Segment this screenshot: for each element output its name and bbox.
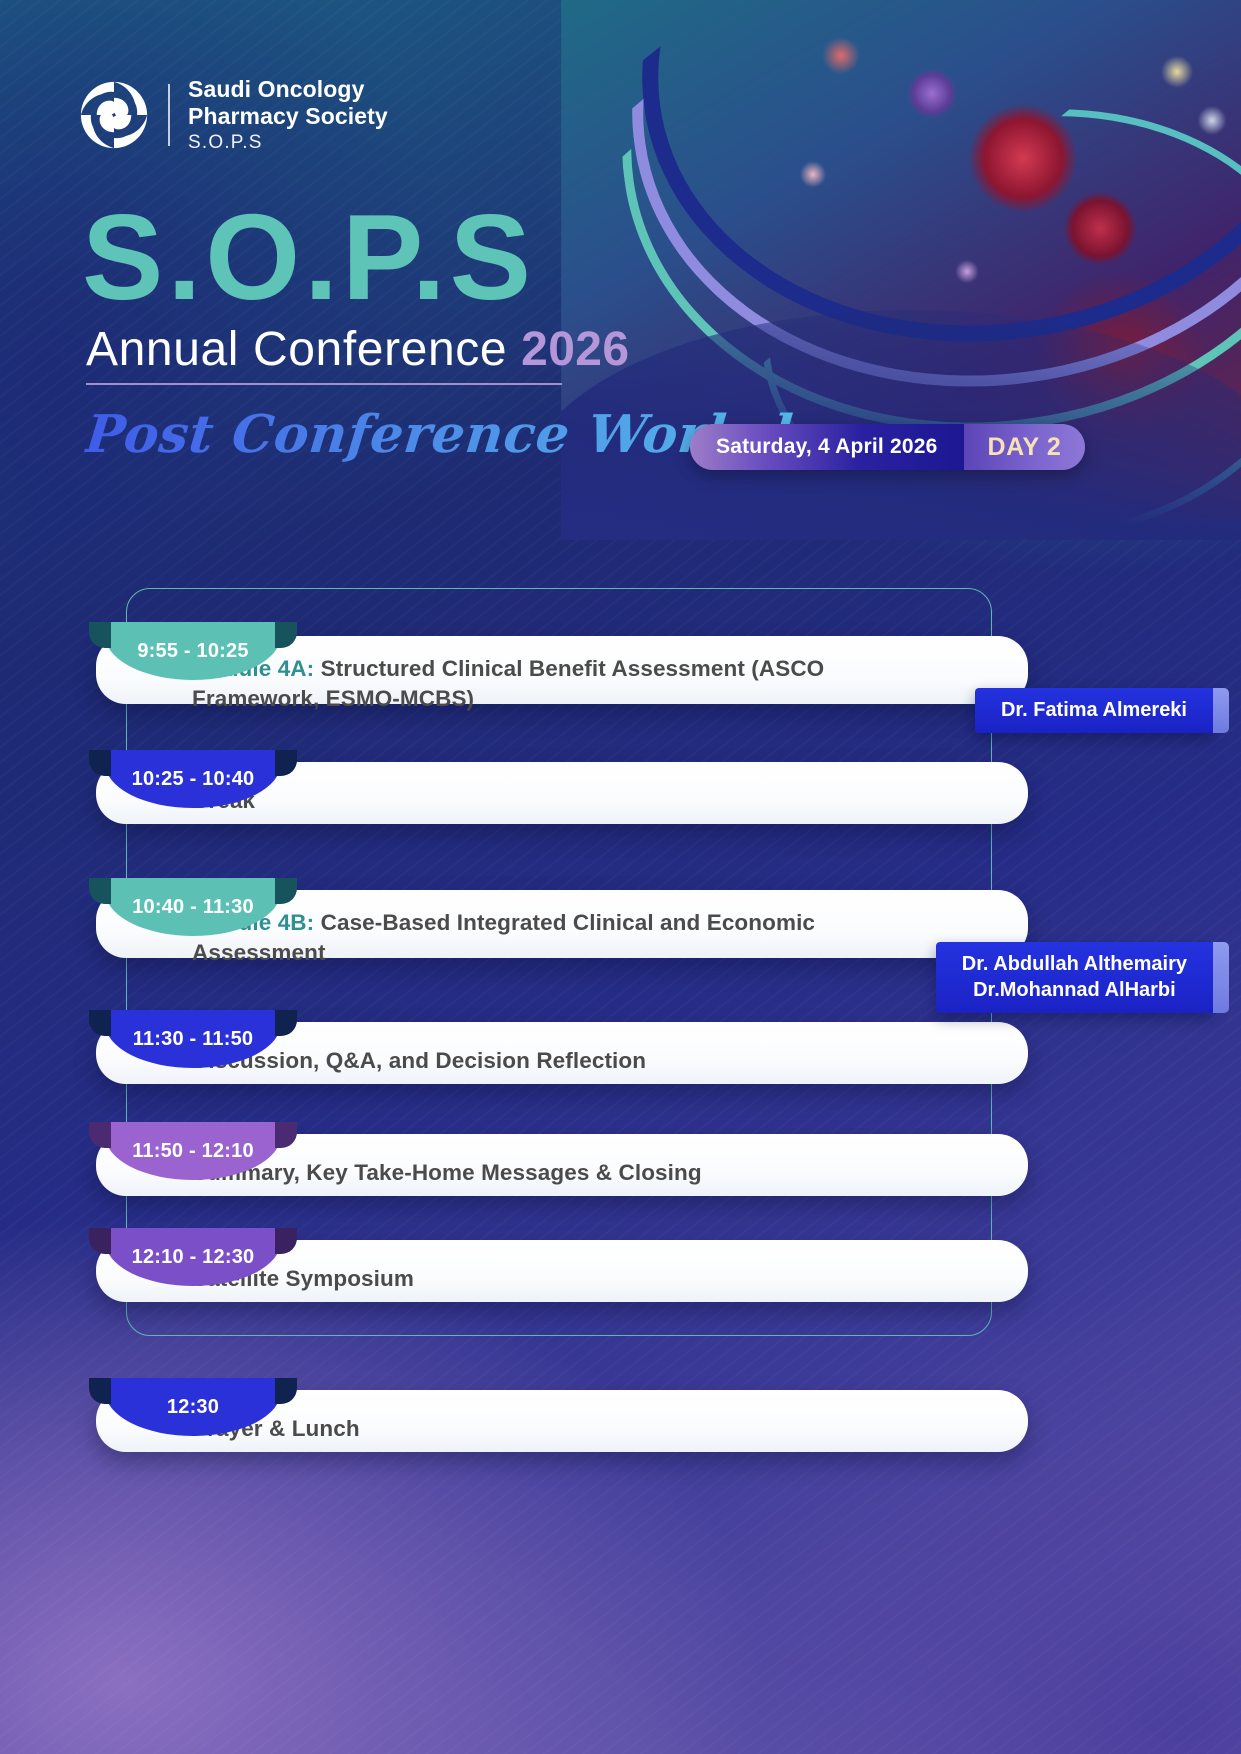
title-divider: [86, 383, 562, 385]
society-logo: Saudi Oncology Pharmacy Society S.O.P.S: [78, 76, 388, 154]
page-title: S.O.P.S: [82, 196, 535, 318]
conference-subtitle: Annual Conference 2026: [86, 326, 629, 374]
org-line-1: Saudi Oncology: [188, 76, 388, 103]
agenda-session-title: Prayer & Lunch: [192, 1414, 872, 1444]
org-abbreviation: S.O.P.S: [188, 132, 388, 154]
agenda-session-title: Module 4B: Case-Based Integrated Clinica…: [192, 908, 872, 968]
sops-pinwheel-logo-icon: [78, 79, 150, 151]
agenda-session-title: Satellite Symposium: [192, 1264, 872, 1294]
conference-name: Annual Conference: [86, 323, 521, 376]
agenda-session-title: Break: [192, 786, 872, 816]
agenda-session-title: Summary, Key Take-Home Messages & Closin…: [192, 1158, 872, 1188]
agenda-session-title: Module 4A: Structured Clinical Benefit A…: [192, 654, 872, 714]
logo-divider: [168, 84, 170, 146]
org-line-2: Pharmacy Society: [188, 103, 388, 130]
agenda-speaker-tag: Dr. Abdullah Althemairy Dr.Mohannad AlHa…: [936, 942, 1213, 1013]
conference-date: Saturday, 4 April 2026: [690, 424, 964, 470]
conference-year: 2026: [521, 323, 629, 376]
date-badge: Saturday, 4 April 2026 DAY 2: [690, 424, 1085, 470]
agenda-session-title: Discussion, Q&A, and Decision Reflection: [192, 1046, 872, 1076]
agenda-speaker-tag: Dr. Fatima Almereki: [975, 688, 1213, 733]
day-number-badge: DAY 2: [964, 424, 1086, 470]
